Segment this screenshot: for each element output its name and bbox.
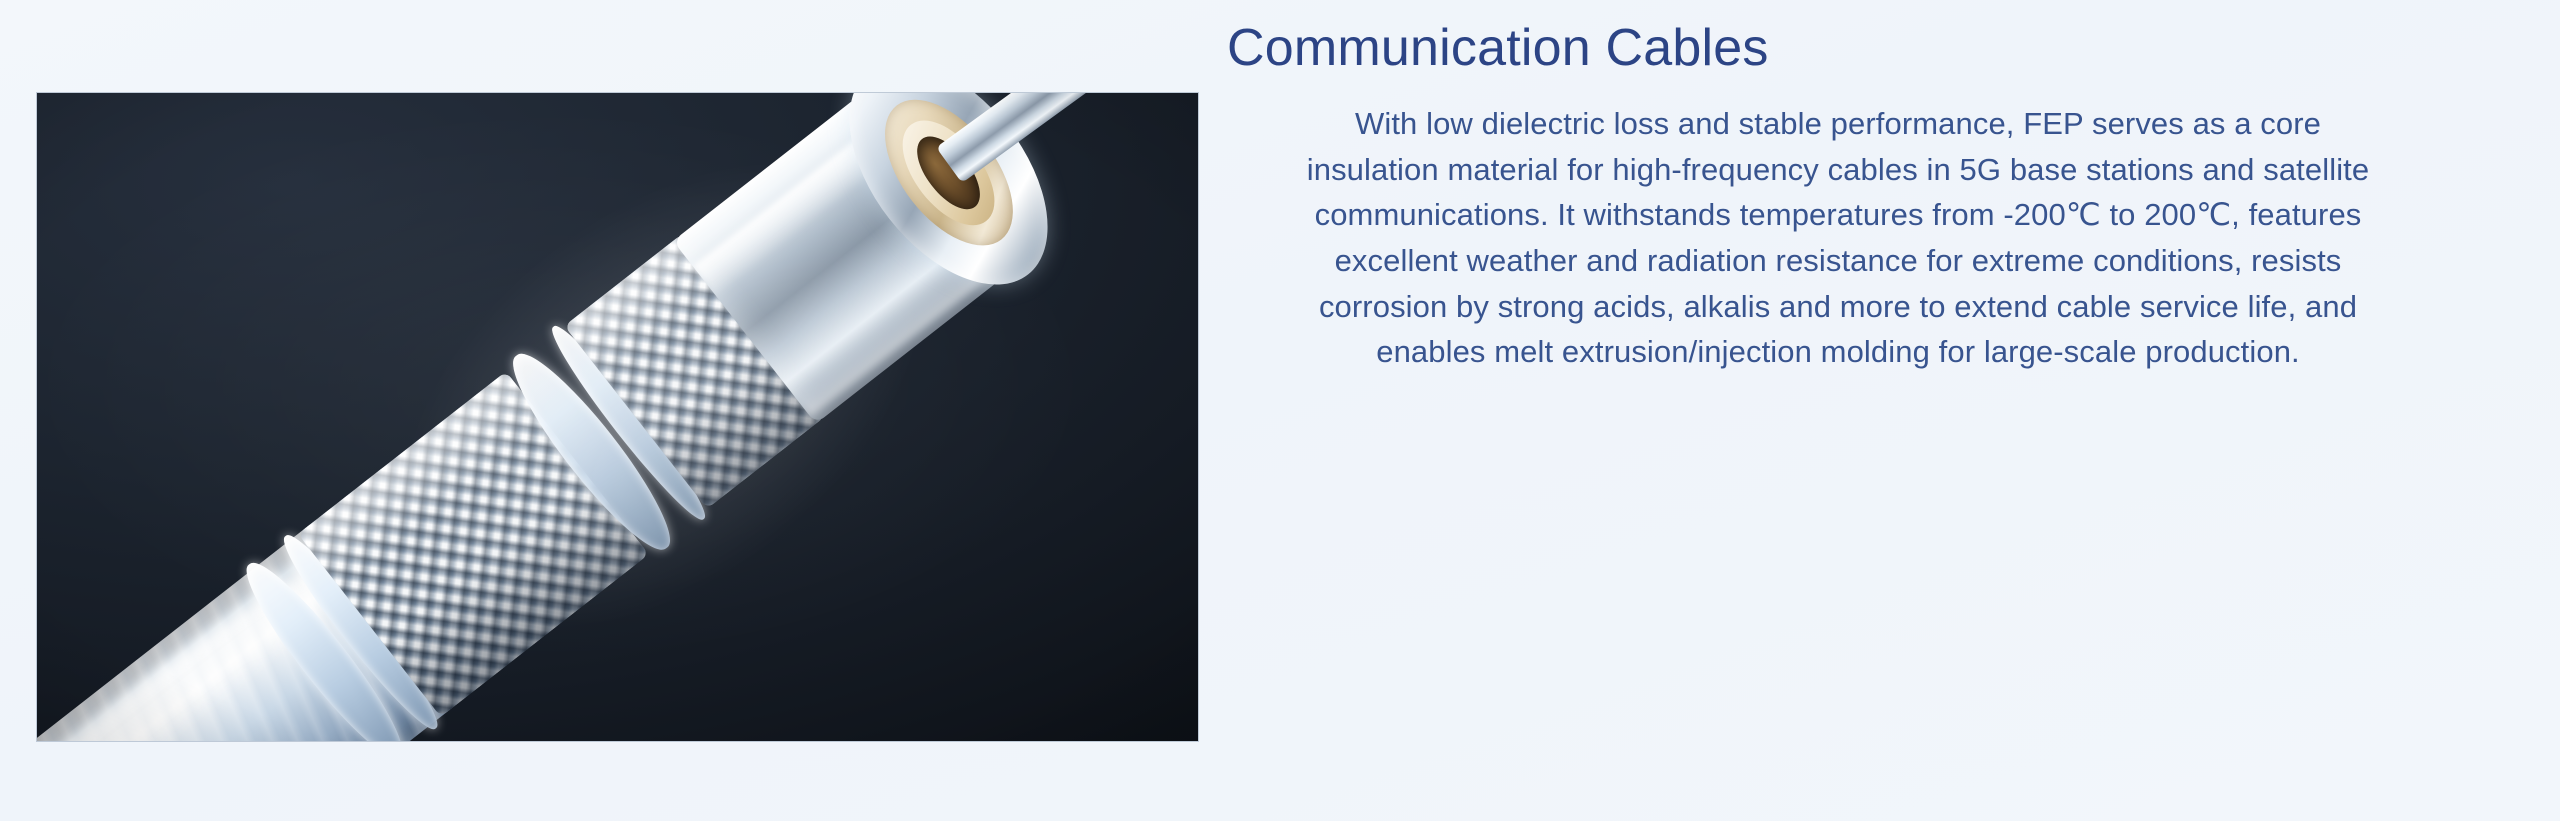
section-body-text: With low dielectric loss and stable perf… bbox=[1289, 101, 2387, 374]
product-photo-container bbox=[37, 93, 1198, 741]
section-title: Communication Cables bbox=[1227, 18, 2497, 79]
text-column: Communication Cables With low dielectric… bbox=[1227, 0, 2497, 821]
section-body-container: With low dielectric loss and stable perf… bbox=[1227, 101, 2387, 374]
coaxial-cable-photo bbox=[37, 93, 1198, 741]
product-feature-section: Communication Cables With low dielectric… bbox=[0, 0, 2560, 821]
coaxial-cable-assembly bbox=[37, 93, 1181, 741]
